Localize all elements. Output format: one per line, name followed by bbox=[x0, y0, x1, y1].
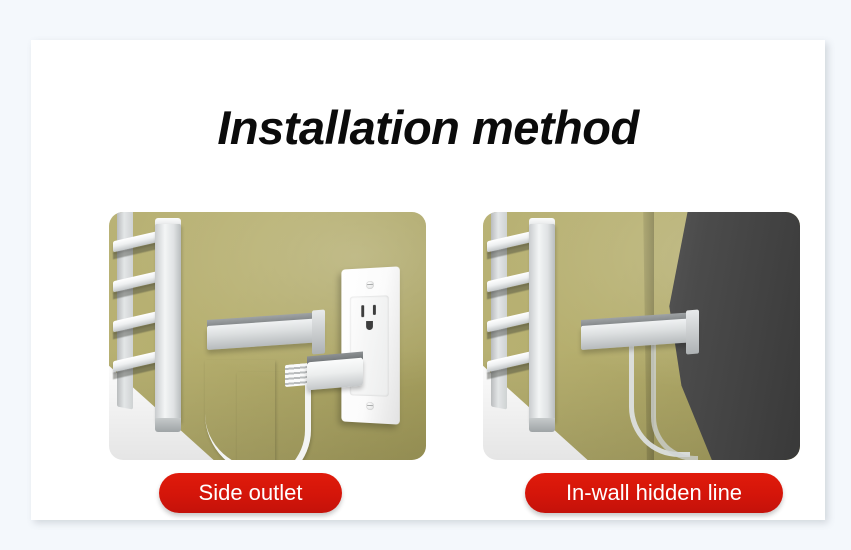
socket-slot-neutral bbox=[361, 305, 364, 317]
screw-slot bbox=[367, 405, 373, 406]
wall-outlet-faceplate bbox=[341, 266, 399, 424]
screenshot-stage: Installation method bbox=[0, 0, 851, 550]
page-title: Installation method bbox=[31, 100, 825, 155]
badge-side-outlet[interactable]: Side outlet bbox=[159, 473, 342, 513]
content-card: Installation method bbox=[31, 40, 825, 520]
socket-slot-hot bbox=[373, 305, 376, 315]
wall-bracket-plate bbox=[312, 310, 325, 355]
rack-front-rail bbox=[155, 224, 181, 422]
socket-ground-hole bbox=[366, 321, 373, 330]
faceplate-screw-bottom bbox=[366, 402, 374, 410]
rack-front-rail-foot bbox=[529, 418, 555, 432]
faceplate-screw-top bbox=[366, 281, 374, 289]
installation-panel-in-wall-hidden-line[interactable] bbox=[483, 212, 800, 460]
rack-front-rail bbox=[529, 224, 555, 422]
plug-prongs bbox=[285, 363, 309, 387]
plug-body bbox=[307, 358, 363, 391]
hidden-power-cord-secondary bbox=[651, 340, 698, 460]
screw-slot bbox=[367, 284, 373, 285]
installation-panel-side-outlet[interactable] bbox=[109, 212, 426, 460]
outlet-socket-upper bbox=[356, 302, 381, 336]
wall-bracket-plate bbox=[686, 310, 699, 355]
badge-in-wall-hidden-line[interactable]: In-wall hidden line bbox=[525, 473, 783, 513]
rack-front-rail-foot bbox=[155, 418, 181, 432]
